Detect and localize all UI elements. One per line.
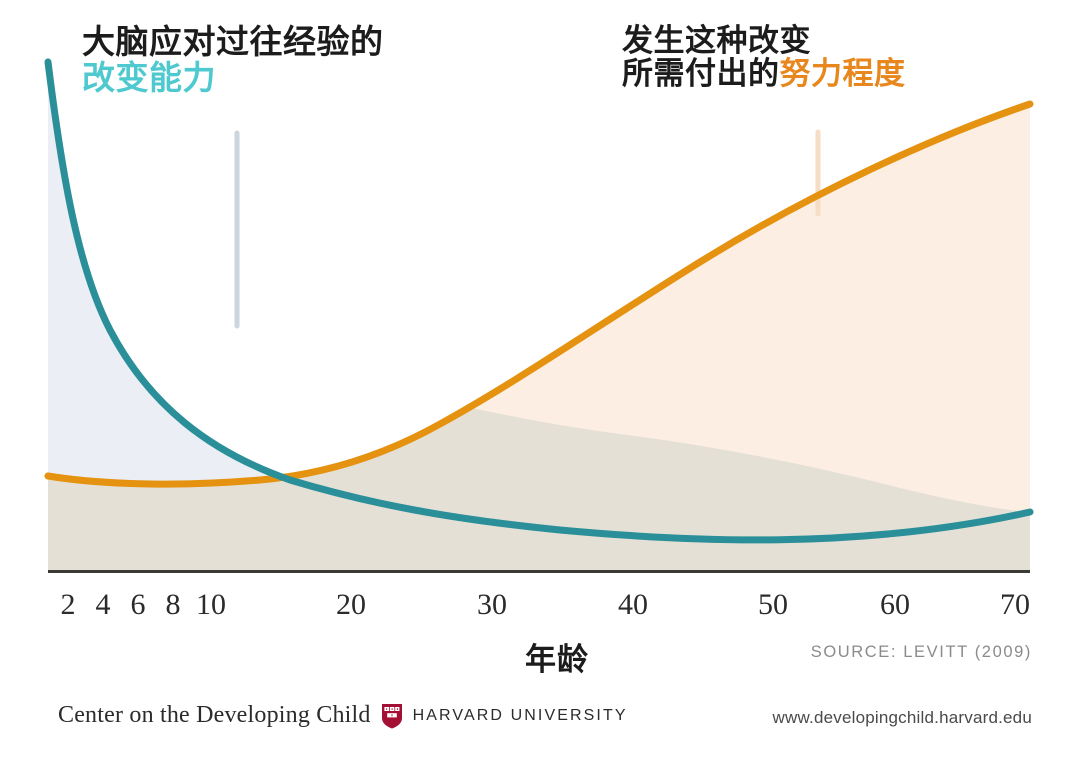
x-tick-70: 70 <box>1000 588 1030 622</box>
effort-label-line2-highlight: 努力程度 <box>780 56 906 91</box>
brand-lockup: Center on the Developing Child HARVARD U… <box>58 702 628 729</box>
source-note: SOURCE: LEVITT (2009) <box>811 643 1032 662</box>
brand-name: Center on the Developing Child <box>58 702 371 729</box>
x-tick-10: 10 <box>196 588 226 622</box>
x-tick-40: 40 <box>618 588 648 622</box>
site-url: www.developingchild.harvard.edu <box>773 708 1032 728</box>
effort-label-line2-prefix: 所需付出的 <box>622 56 780 91</box>
brand-university: HARVARD UNIVERSITY <box>413 707 628 725</box>
x-axis-title: 年龄 <box>525 634 589 679</box>
chart-figure: 大脑应对过往经验的 改变能力 发生这种改变 所需付出的努力程度 2 4 6 8 … <box>0 0 1080 759</box>
x-tick-8: 8 <box>166 588 181 622</box>
effort-label: 发生这种改变 所需付出的努力程度 <box>622 24 906 91</box>
x-tick-4: 4 <box>96 588 111 622</box>
x-tick-2: 2 <box>61 588 76 622</box>
plasticity-label-line1: 大脑应对过往经验的 <box>82 24 384 60</box>
effort-label-line2: 所需付出的努力程度 <box>622 57 906 90</box>
harvard-shield-icon <box>381 703 403 729</box>
plasticity-label-line2: 改变能力 <box>82 60 384 96</box>
x-tick-30: 30 <box>477 588 507 622</box>
x-tick-6: 6 <box>131 588 146 622</box>
footer: Center on the Developing Child HARVARD U… <box>0 700 1080 740</box>
x-tick-60: 60 <box>880 588 910 622</box>
x-tick-50: 50 <box>758 588 788 622</box>
plasticity-label: 大脑应对过往经验的 改变能力 <box>82 24 384 95</box>
effort-label-line1: 发生这种改变 <box>622 24 906 57</box>
x-tick-20: 20 <box>336 588 366 622</box>
